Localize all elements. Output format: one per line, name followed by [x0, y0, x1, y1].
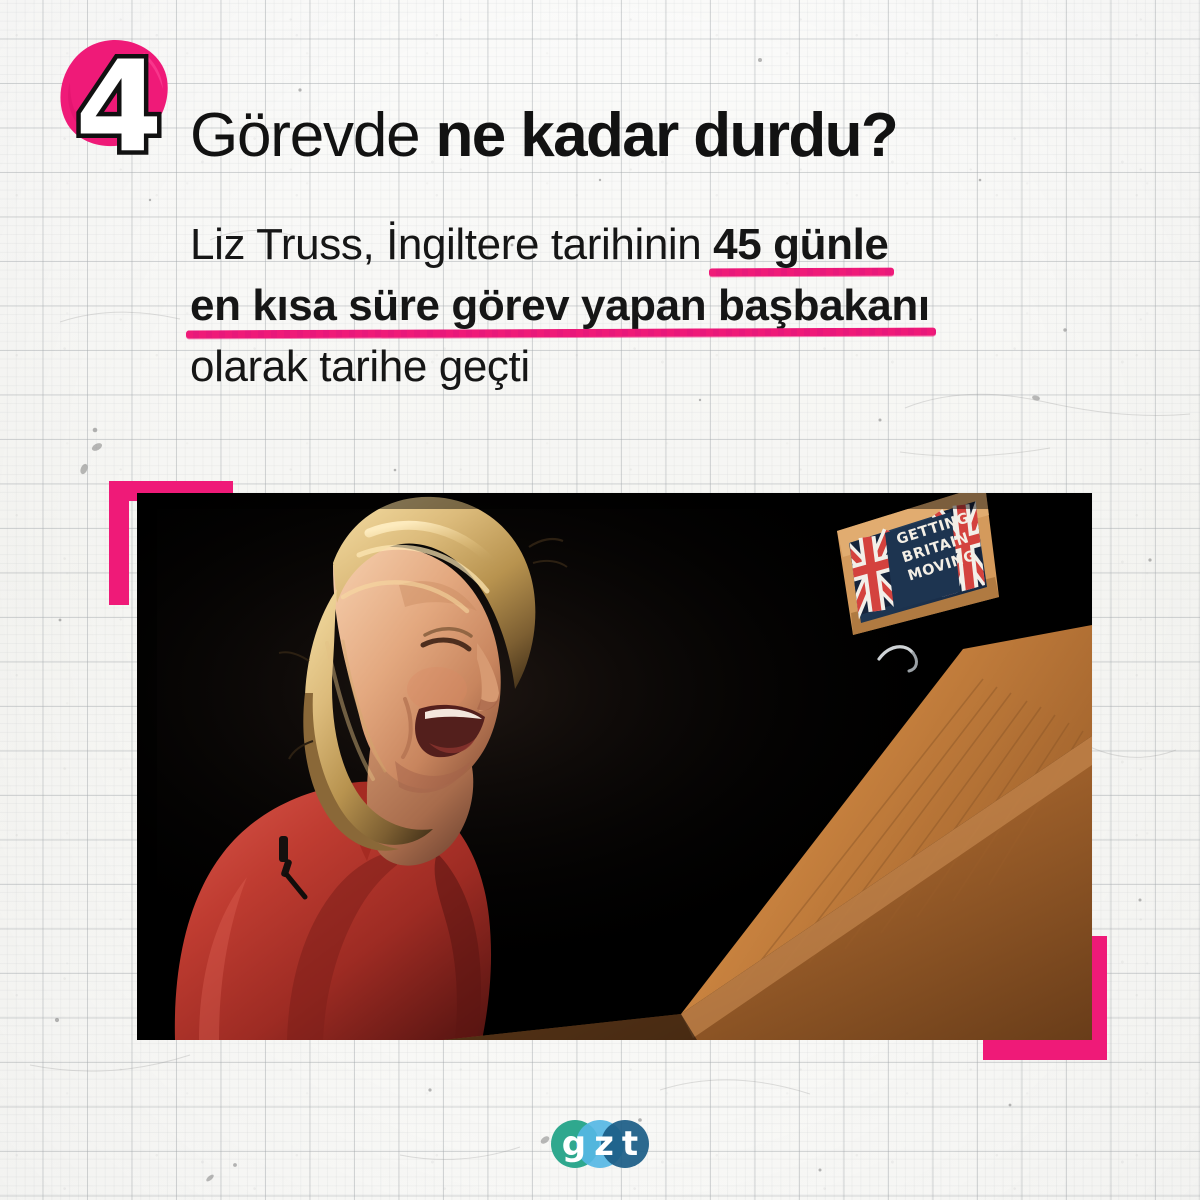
subtitle-line-2: en kısa süre görev yapan başbakanı	[190, 275, 1070, 336]
photo-liz-truss: GETTING BRITAIN MOVING	[137, 493, 1092, 1040]
brand-logo-gzt[interactable]: gzt	[548, 1119, 652, 1169]
page-title: Görevde ne kadar durdu?	[190, 100, 1150, 172]
subtitle-line-1: Liz Truss, İngiltere tarihinin 45 günle	[190, 214, 1070, 275]
subtitle-line1-regular: Liz Truss, İngiltere tarihinin	[190, 220, 713, 269]
step-number-badge: 4	[52, 36, 184, 178]
infographic-card: 4 Görevde ne kadar durdu? Liz Truss, İng…	[0, 0, 1200, 1200]
subtitle-line-3: olarak tarihe geçti	[190, 336, 1070, 397]
logo-wordmark: gzt	[548, 1119, 652, 1169]
headline-regular: Görevde	[190, 101, 435, 170]
subtitle-block: Liz Truss, İngiltere tarihinin 45 günle …	[190, 214, 1070, 397]
step-number: 4	[52, 36, 184, 178]
subtitle-highlight-shortest: en kısa süre görev yapan başbakanı	[190, 275, 930, 336]
photo-container: GETTING BRITAIN MOVING	[137, 493, 1092, 1040]
headline-bold: ne kadar durdu?	[435, 101, 897, 170]
subtitle-highlight-days: 45 günle	[713, 214, 888, 275]
photo-artwork: GETTING BRITAIN MOVING	[137, 493, 1092, 1040]
subtitle-line3-regular: olarak tarihe geçti	[190, 342, 530, 391]
